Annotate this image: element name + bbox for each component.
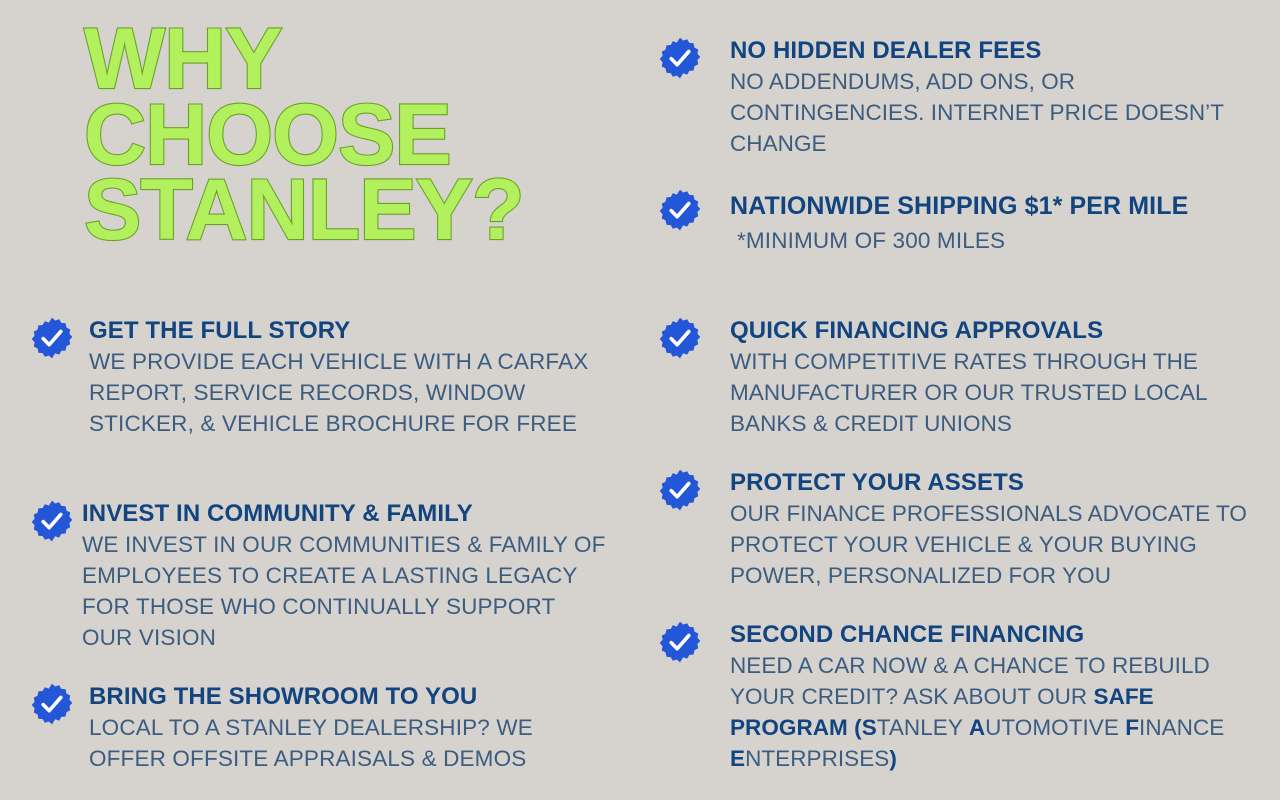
feature-text: NO HIDDEN DEALER FEES NO ADDENDUMS, ADD … <box>710 36 1258 159</box>
feature-body: NO ADDENDUMS, ADD ONS, OR CONTINGENCIES.… <box>730 66 1258 159</box>
feature-get-the-full-story: GET THE FULL STORY WE PROVIDE EACH VEHIC… <box>30 316 610 439</box>
feature-title: NO HIDDEN DEALER FEES <box>730 36 1258 65</box>
feature-title: PROTECT YOUR ASSETS <box>730 468 1258 497</box>
feature-bring-the-showroom-to-you: BRING THE SHOWROOM TO YOU LOCAL TO A STA… <box>30 682 610 774</box>
feature-body: *MINIMUM OF 300 MILES <box>730 225 1258 256</box>
feature-title: QUICK FINANCING APPROVALS <box>730 316 1258 345</box>
verified-check-icon <box>658 468 702 512</box>
verified-check-icon <box>658 188 702 232</box>
acronym-e: E <box>730 746 745 771</box>
acronym-a: A <box>969 715 985 740</box>
feature-body: WE INVEST IN OUR COMMUNITIES & FAMILY OF… <box>82 529 610 653</box>
feature-title: NATIONWIDE SHIPPING $1* PER MILE <box>730 188 1258 224</box>
verified-check-icon <box>30 499 74 543</box>
feature-no-hidden-dealer-fees: NO HIDDEN DEALER FEES NO ADDENDUMS, ADD … <box>658 36 1258 159</box>
feature-invest-in-community-and-family: INVEST IN COMMUNITY & FAMILY WE INVEST I… <box>30 499 610 653</box>
feature-body: NEED A CAR NOW & A CHANCE TO REBUILD YOU… <box>730 650 1258 774</box>
feature-quick-financing-approvals: QUICK FINANCING APPROVALS WITH COMPETITI… <box>658 316 1258 439</box>
feature-text: NATIONWIDE SHIPPING $1* PER MILE *MINIMU… <box>710 188 1258 256</box>
feature-title: SECOND CHANCE FINANCING <box>730 620 1258 649</box>
feature-title: INVEST IN COMMUNITY & FAMILY <box>82 499 610 528</box>
acronym-inance: INANCE <box>1139 715 1224 740</box>
feature-text: INVEST IN COMMUNITY & FAMILY WE INVEST I… <box>82 499 610 653</box>
feature-protect-your-assets: PROTECT YOUR ASSETS OUR FINANCE PROFESSI… <box>658 468 1258 591</box>
feature-text: BRING THE SHOWROOM TO YOU LOCAL TO A STA… <box>82 682 610 774</box>
feature-body: LOCAL TO A STANLEY DEALERSHIP? WE OFFER … <box>89 712 610 774</box>
feature-second-chance-financing: SECOND CHANCE FINANCING NEED A CAR NOW &… <box>658 620 1258 774</box>
page-title: WHY CHOOSE STANLEY? <box>84 22 604 249</box>
feature-text: QUICK FINANCING APPROVALS WITH COMPETITI… <box>710 316 1258 439</box>
feature-body: OUR FINANCE PROFESSIONALS ADVOCATE TO PR… <box>730 498 1258 591</box>
acronym-tanley: TANLEY <box>877 715 969 740</box>
acronym-utomotive: UTOMOTIVE <box>985 715 1125 740</box>
acronym-f: F <box>1125 715 1139 740</box>
verified-check-icon <box>30 682 74 726</box>
left-column: WHY CHOOSE STANLEY? GET THE FULL STORY W… <box>0 0 620 800</box>
acronym-nterprises: NTERPRISES <box>745 746 889 771</box>
acronym-close-paren: ) <box>889 746 897 771</box>
verified-check-icon <box>658 316 702 360</box>
feature-text: SECOND CHANCE FINANCING NEED A CAR NOW &… <box>710 620 1258 774</box>
feature-title: GET THE FULL STORY <box>89 316 610 345</box>
feature-body: WE PROVIDE EACH VEHICLE WITH A CARFAX RE… <box>89 346 610 439</box>
feature-text: PROTECT YOUR ASSETS OUR FINANCE PROFESSI… <box>710 468 1258 591</box>
feature-nationwide-shipping: NATIONWIDE SHIPPING $1* PER MILE *MINIMU… <box>658 188 1258 256</box>
verified-check-icon <box>658 36 702 80</box>
poster-root: WHY CHOOSE STANLEY? GET THE FULL STORY W… <box>0 0 1280 800</box>
verified-check-icon <box>658 620 702 664</box>
feature-body: WITH COMPETITIVE RATES THROUGH THE MANUF… <box>730 346 1258 439</box>
feature-text: GET THE FULL STORY WE PROVIDE EACH VEHIC… <box>82 316 610 439</box>
feature-body-note: *MINIMUM OF 300 MILES <box>730 225 1258 256</box>
verified-check-icon <box>30 316 74 360</box>
feature-title: BRING THE SHOWROOM TO YOU <box>89 682 610 711</box>
